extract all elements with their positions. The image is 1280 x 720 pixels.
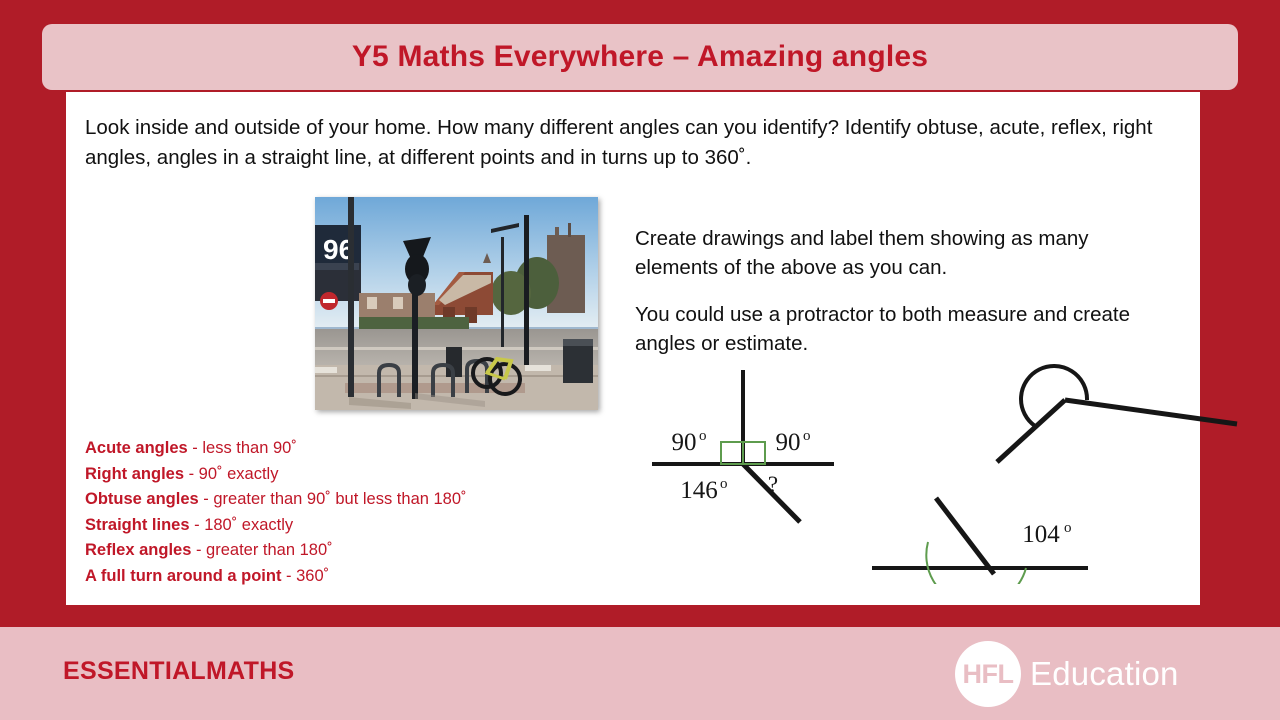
definition-term: Acute angles bbox=[85, 439, 188, 457]
definition-term: Right angles bbox=[85, 465, 184, 483]
hfl-logo-circle: HFL bbox=[955, 641, 1021, 707]
definition-term: Obtuse angles bbox=[85, 490, 199, 508]
label-right-degree: o bbox=[803, 428, 811, 444]
definition-desc: - less than 90˚ bbox=[188, 439, 297, 457]
definition-desc: - greater than 90˚ but less than 180˚ bbox=[199, 490, 467, 508]
label-104-degree: o bbox=[1064, 520, 1072, 536]
definition-desc: - 90˚ exactly bbox=[184, 465, 278, 483]
definition-row: Obtuse angles - greater than 90˚ but les… bbox=[85, 487, 645, 513]
title-banner: Y5 Maths Everywhere – Amazing angles bbox=[42, 24, 1238, 90]
footer-brand: ESSENTIALMATHS bbox=[63, 657, 295, 686]
definition-desc: - greater than 180˚ bbox=[191, 541, 332, 559]
definition-desc: - 360˚ bbox=[281, 567, 329, 585]
definition-term: Straight lines bbox=[85, 516, 190, 534]
label-left-90: 90 bbox=[672, 429, 697, 456]
definition-row: Straight lines - 180˚ exactly bbox=[85, 513, 645, 539]
definition-term: Reflex angles bbox=[85, 541, 191, 559]
instruction-protractor: You could use a protractor to both measu… bbox=[635, 300, 1165, 358]
definition-row: Reflex angles - greater than 180˚ bbox=[85, 538, 645, 564]
definition-desc: - 180˚ exactly bbox=[190, 516, 294, 534]
definition-term: A full turn around a point bbox=[85, 567, 281, 585]
label-unknown: ? bbox=[768, 472, 778, 497]
page-title: Y5 Maths Everywhere – Amazing angles bbox=[352, 40, 928, 74]
label-146: 146 bbox=[680, 477, 718, 504]
hfl-logo-word: Education bbox=[1030, 655, 1179, 693]
label-104: 104 bbox=[1022, 521, 1060, 548]
footer-bar: ESSENTIALMATHS HFL Education bbox=[0, 627, 1280, 720]
label-146-degree: o bbox=[720, 476, 728, 492]
angle-definitions-list: Acute angles - less than 90˚ Right angle… bbox=[85, 436, 645, 589]
obtuse-angle-104-diagram: 104 o bbox=[866, 484, 1106, 584]
definition-row: A full turn around a point - 360˚ bbox=[85, 564, 645, 590]
hfl-education-logo: HFL Education bbox=[955, 641, 1179, 707]
label-left-degree: o bbox=[699, 428, 707, 444]
street-scene-photo: 96 bbox=[315, 197, 598, 410]
hfl-logo-mark: HFL bbox=[963, 659, 1014, 690]
instruction-create-drawings: Create drawings and label them showing a… bbox=[635, 224, 1165, 282]
definition-row: Acute angles - less than 90˚ bbox=[85, 436, 645, 462]
reflex-angle-diagram bbox=[975, 354, 1250, 469]
label-right-90: 90 bbox=[776, 429, 801, 456]
content-panel: Look inside and outside of your home. Ho… bbox=[66, 92, 1200, 605]
intro-paragraph: Look inside and outside of your home. Ho… bbox=[85, 113, 1175, 173]
angles-at-a-point-diagram: 90 o 90 o 146 o ? bbox=[648, 364, 838, 529]
definition-row: Right angles - 90˚ exactly bbox=[85, 462, 645, 488]
